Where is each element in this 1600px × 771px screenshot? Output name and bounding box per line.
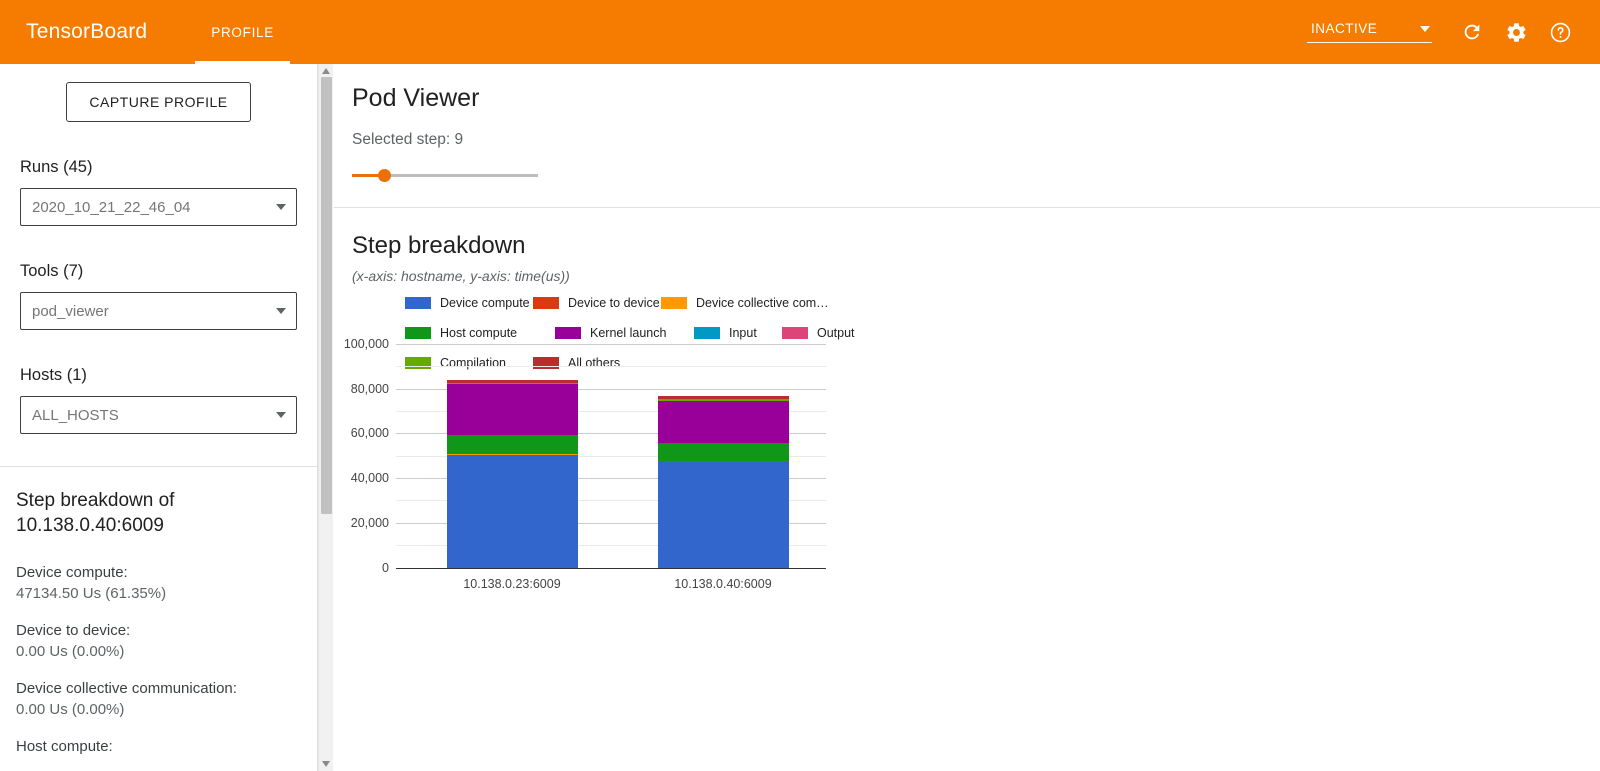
run-status-value: INACTIVE — [1311, 21, 1377, 36]
help-button[interactable] — [1542, 14, 1578, 50]
y-axis-tick: 80,000 — [351, 382, 389, 396]
legend-row: Device computeDevice to deviceDevice col… — [405, 296, 825, 311]
chevron-down-icon — [276, 204, 286, 210]
scroll-down-icon[interactable] — [322, 761, 330, 767]
sidebar: CAPTURE PROFILE Runs (45) 2020_10_21_22_… — [0, 64, 318, 771]
step-breakdown-chart: Device computeDevice to deviceDevice col… — [334, 296, 1600, 606]
chart-legend: Device computeDevice to deviceDevice col… — [405, 296, 825, 341]
x-axis-line — [396, 568, 826, 570]
detail-value: 0.00 Us (0.00%) — [16, 643, 301, 660]
bar-segment-device-compute[interactable] — [447, 455, 578, 567]
bar-segment-host-compute[interactable] — [447, 435, 578, 454]
top-bar: TensorBoard PROFILE INACTIVE — [0, 0, 1600, 64]
chart-subtitle: (x-axis: hostname, y-axis: time(us)) — [352, 268, 1600, 284]
tab-profile[interactable]: PROFILE — [195, 0, 290, 64]
legend-swatch — [661, 297, 687, 309]
legend-label: Device to device — [568, 296, 660, 310]
detail-device-to-device: Device to device: 0.00 Us (0.00%) — [16, 622, 301, 660]
x-axis-label: 10.138.0.40:6009 — [674, 577, 771, 591]
main-content: Pod Viewer Selected step: 9 Step breakdo… — [334, 64, 1600, 771]
runs-select[interactable]: 2020_10_21_22_46_04 — [20, 188, 297, 226]
runs-label: Runs (45) — [20, 158, 297, 177]
selected-step-label: Selected step: 9 — [352, 131, 1600, 149]
bar-segment-host-compute[interactable] — [658, 443, 789, 461]
capture-profile-button[interactable]: CAPTURE PROFILE — [66, 82, 250, 122]
detail-device-collective-communication: Device collective communication: 0.00 Us… — [16, 680, 301, 718]
chevron-down-icon — [276, 308, 286, 314]
tools-field: Tools (7) pod_viewer — [0, 262, 317, 330]
hosts-label: Hosts (1) — [20, 366, 297, 385]
legend-label: Device collective com… — [696, 296, 829, 310]
capture-profile-row: CAPTURE PROFILE — [0, 64, 317, 122]
hosts-field: Hosts (1) ALL_HOSTS — [0, 366, 317, 434]
y-axis-tick: 20,000 — [351, 516, 389, 530]
slider-thumb[interactable] — [378, 169, 391, 182]
chart-plot-area: 020,00040,00060,00080,000100,00010.138.0… — [396, 344, 826, 569]
bar-10.138.0.23:6009[interactable] — [447, 380, 578, 567]
x-axis-label: 10.138.0.23:6009 — [463, 577, 560, 591]
bar-10.138.0.40:6009[interactable] — [658, 396, 789, 567]
legend-item-device-compute[interactable]: Device compute — [405, 296, 530, 310]
chevron-down-icon — [276, 412, 286, 418]
scroll-up-icon[interactable] — [322, 68, 330, 74]
step-slider[interactable] — [352, 165, 538, 185]
legend-label: Device compute — [440, 296, 530, 310]
step-breakdown-title: Step breakdown of 10.138.0.40:6009 — [16, 489, 301, 538]
legend-swatch — [405, 297, 431, 309]
chart-title: Step breakdown — [352, 232, 1600, 260]
bar-segment-kernel-launch[interactable] — [658, 401, 789, 443]
runs-field: Runs (45) 2020_10_21_22_46_04 — [0, 158, 317, 226]
refresh-button[interactable] — [1454, 14, 1490, 50]
legend-item-device-collective-com[interactable]: Device collective com… — [661, 296, 829, 310]
scrollbar-thumb[interactable] — [321, 77, 332, 514]
detail-value: 47134.50 Us (61.35%) — [16, 585, 301, 602]
top-bar-actions: INACTIVE — [1307, 14, 1600, 50]
gridline-minor — [396, 366, 826, 367]
tools-label: Tools (7) — [20, 262, 297, 281]
legend-row: Host computeKernel launchInputOutput — [405, 311, 825, 326]
detail-host-compute: Host compute: — [16, 738, 301, 755]
runs-value: 2020_10_21_22_46_04 — [32, 199, 191, 216]
run-status-dropdown[interactable]: INACTIVE — [1307, 21, 1432, 43]
sidebar-scrollbar[interactable] — [318, 64, 333, 771]
hosts-value: ALL_HOSTS — [32, 407, 119, 424]
page-title: Pod Viewer — [352, 84, 1600, 113]
gridline-major — [396, 344, 826, 345]
bar-segment-kernel-launch[interactable] — [447, 384, 578, 435]
app-brand: TensorBoard — [26, 20, 147, 44]
step-breakdown-panel: Step breakdown of 10.138.0.40:6009 Devic… — [0, 467, 317, 755]
tab-profile-label: PROFILE — [211, 25, 274, 40]
y-axis-tick: 100,000 — [344, 337, 389, 351]
y-axis-tick: 60,000 — [351, 426, 389, 440]
header-divider — [334, 207, 1600, 208]
settings-button[interactable] — [1498, 14, 1534, 50]
detail-value: 0.00 Us (0.00%) — [16, 701, 301, 718]
detail-key: Host compute: — [16, 738, 301, 755]
y-axis-tick: 40,000 — [351, 471, 389, 485]
chevron-down-icon — [1420, 26, 1430, 32]
detail-device-compute: Device compute: 47134.50 Us (61.35%) — [16, 564, 301, 602]
detail-key: Device compute: — [16, 564, 301, 581]
bar-segment-device-compute[interactable] — [658, 462, 789, 567]
help-icon — [1549, 21, 1572, 44]
detail-key: Device collective communication: — [16, 680, 301, 697]
legend-swatch — [533, 297, 559, 309]
hosts-select[interactable]: ALL_HOSTS — [20, 396, 297, 434]
gear-icon — [1505, 21, 1528, 44]
y-axis-tick: 0 — [382, 561, 389, 575]
tools-value: pod_viewer — [32, 303, 109, 320]
detail-key: Device to device: — [16, 622, 301, 639]
legend-item-device-to-device[interactable]: Device to device — [533, 296, 660, 310]
refresh-icon — [1461, 21, 1483, 43]
legend-row: CompilationAll others — [405, 326, 825, 341]
tools-select[interactable]: pod_viewer — [20, 292, 297, 330]
